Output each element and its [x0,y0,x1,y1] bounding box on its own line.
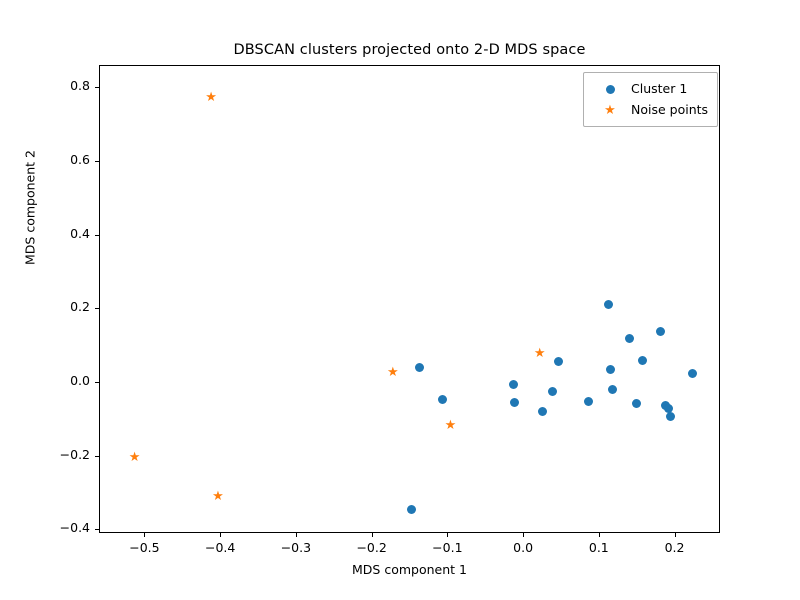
star-marker-icon: ★ [593,100,627,119]
y-tick-label: 0.0 [20,373,90,388]
scatter-plot-figure: DBSCAN clusters projected onto 2-D MDS s… [0,0,800,600]
y-tick-label: 0.8 [20,78,90,93]
x-tick-mark [372,533,373,537]
chart-legend: Cluster 1★Noise points [583,72,718,127]
x-tick-label: −0.3 [261,540,331,555]
legend-marker-glyph [606,85,615,94]
x-tick-label: −0.4 [185,540,255,555]
chart-title: DBSCAN clusters projected onto 2-D MDS s… [99,42,720,58]
y-tick-mark [95,308,99,309]
legend-label: Cluster 1 [627,81,687,96]
legend-item-1[interactable]: Cluster 1 [593,78,708,99]
legend-item-2[interactable]: ★Noise points [593,99,708,120]
x-tick-mark [296,533,297,537]
x-tick-mark [599,533,600,537]
x-tick-label: 0.0 [488,540,558,555]
x-tick-mark [675,533,676,537]
circle-marker-icon [593,79,627,98]
y-tick-label: −0.4 [20,520,90,535]
x-tick-label: 0.2 [640,540,710,555]
x-tick-mark [220,533,221,537]
legend-marker-glyph: ★ [604,104,616,117]
x-tick-label: −0.2 [337,540,407,555]
x-tick-mark [447,533,448,537]
x-tick-label: −0.5 [109,540,179,555]
y-tick-mark [95,382,99,383]
y-tick-mark [95,529,99,530]
y-tick-mark [95,161,99,162]
y-tick-mark [95,235,99,236]
x-tick-label: −0.1 [412,540,482,555]
y-tick-mark [95,87,99,88]
y-tick-label: −0.2 [20,447,90,462]
legend-label: Noise points [627,102,708,117]
x-axis-label: MDS component 1 [99,562,720,577]
plot-area [99,65,720,533]
x-tick-mark [523,533,524,537]
x-tick-label: 0.1 [564,540,634,555]
y-tick-mark [95,456,99,457]
x-tick-mark [144,533,145,537]
y-axis-label: MDS component 2 [23,108,38,308]
